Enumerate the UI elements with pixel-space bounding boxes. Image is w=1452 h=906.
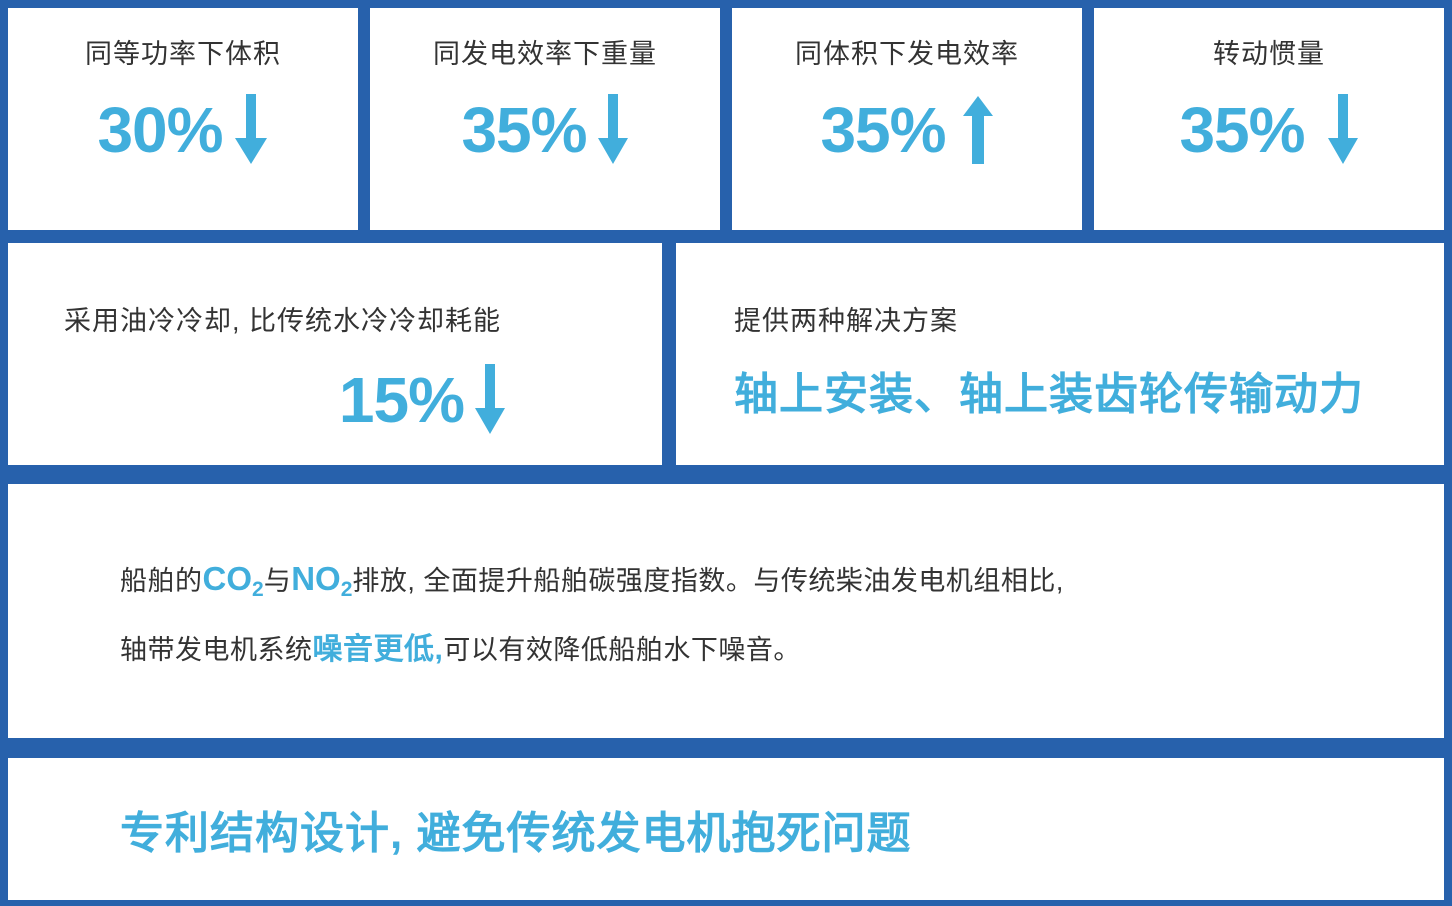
stat-value: 35%: [1179, 98, 1304, 162]
solutions-card: 提供两种解决方案 轴上安装、轴上装齿轮传输动力: [676, 243, 1444, 465]
cooling-title: 采用油冷冷却, 比传统水冷冷却耗能: [64, 299, 616, 338]
cooling-value-row: 15%: [64, 364, 616, 436]
stat-card-2: 同体积下发电效率 35%: [732, 8, 1082, 230]
paragraph-mid: 与: [264, 566, 292, 596]
arrow-down-icon: [1327, 94, 1359, 166]
paragraph-suffix: 排放, 全面提升船舶碳强度指数。与传统柴油发电机组相比,: [352, 566, 1064, 596]
paragraph-line2-suffix: 可以有效降低船舶水下噪音。: [443, 635, 801, 665]
paragraph-card: 船舶的CO2与NO2排放, 全面提升船舶碳强度指数。与传统柴油发电机组相比, 轴…: [8, 484, 1444, 738]
paragraph-line-2: 轴带发电机系统噪音更低,可以有效降低船舶水下噪音。: [120, 617, 1374, 683]
arrow-down-icon: [474, 364, 506, 436]
paragraph-line2-prefix: 轴带发电机系统: [120, 635, 313, 665]
cooling-value: 15%: [339, 368, 464, 432]
co2-formula: CO2: [203, 560, 264, 597]
stat-title: 同发电效率下重量: [433, 38, 657, 70]
cooling-card: 采用油冷冷却, 比传统水冷冷却耗能 15%: [8, 243, 662, 465]
stat-value: 35%: [820, 98, 945, 162]
no2-symbol: NO: [291, 560, 341, 597]
arrow-down-icon: [597, 94, 629, 166]
no2-formula: NO2: [291, 560, 352, 597]
stat-card-1: 同发电效率下重量 35%: [370, 8, 720, 230]
paragraph-line-1: 船舶的CO2与NO2排放, 全面提升船舶碳强度指数。与传统柴油发电机组相比,: [120, 546, 1374, 617]
co2-symbol: CO: [203, 560, 253, 597]
stat-title: 同体积下发电效率: [795, 38, 1019, 70]
stat-value-row: 30%: [97, 94, 268, 166]
co2-subscript: 2: [252, 578, 264, 601]
stat-value-row: 35%: [1179, 94, 1358, 166]
stat-card-3: 转动惯量 35%: [1094, 8, 1444, 230]
stat-title: 转动惯量: [1213, 38, 1325, 70]
stat-title: 同等功率下体积: [85, 38, 281, 70]
stat-value-row: 35%: [820, 94, 993, 166]
arrow-up-icon: [962, 94, 994, 166]
stat-card-0: 同等功率下体积 30%: [8, 8, 358, 230]
stat-value: 35%: [461, 98, 586, 162]
arrow-down-icon: [233, 94, 269, 166]
banner-card: 专利结构设计, 避免传统发电机抱死问题: [8, 758, 1444, 900]
stat-value: 30%: [97, 98, 222, 162]
banner-text: 专利结构设计, 避免传统发电机抱死问题: [120, 797, 911, 861]
stat-value-row: 35%: [461, 94, 628, 166]
infographic-page: 同等功率下体积 30% 同发电效率下重量 35% 同体积下发电效率 35%: [0, 0, 1452, 906]
solutions-title: 提供两种解决方案: [734, 299, 1444, 338]
solutions-highlight: 轴上安装、轴上装齿轮传输动力: [734, 358, 1444, 422]
no2-subscript: 2: [341, 578, 353, 601]
noise-highlight: 噪音更低,: [313, 633, 444, 666]
paragraph-prefix: 船舶的: [120, 566, 203, 596]
